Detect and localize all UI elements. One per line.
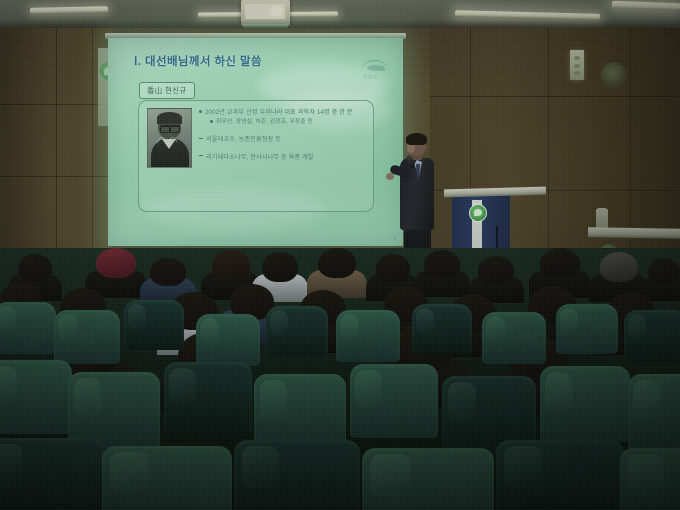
attendee (540, 248, 580, 278)
wall-seam (0, 104, 110, 105)
seat (350, 364, 438, 438)
seat (266, 306, 328, 356)
attendee (424, 250, 460, 278)
seat (234, 440, 360, 510)
presenter-hand (386, 173, 394, 180)
seat (102, 446, 232, 510)
attendee (262, 252, 298, 282)
wall-badge-right (601, 62, 627, 88)
attendee (318, 248, 356, 278)
wall-seam (548, 28, 549, 280)
logo-text: 산림청 (363, 74, 378, 80)
seat (362, 448, 494, 510)
wall-seam (56, 28, 57, 280)
bullet-dot-icon (199, 110, 202, 113)
attendee (478, 256, 514, 284)
attendee (18, 254, 52, 282)
list-item: 리기테다소나무, 현사시나무 등 육종 개발 (199, 154, 367, 162)
seat (0, 438, 104, 510)
attendee (212, 250, 250, 280)
side-table-right (588, 227, 680, 239)
slide-content-box: 2002년 교과부 선정 우리나라 대표 과학자 14명 중 한 분 최무선, … (138, 100, 374, 212)
glasses-icon (160, 125, 180, 131)
list-item: 최무선, 장영실, 허준, 김정호, 우장춘 등 (199, 119, 367, 127)
portrait-photo (147, 108, 192, 168)
green-circular-emblem-icon (469, 204, 487, 222)
wall-seam (630, 28, 631, 280)
seat (556, 304, 618, 354)
lecture-hall-photo: Ⅰ. 대선배님께서 하신 말씀 香山 현신규 2002년 교과부 선정 우리나라… (0, 0, 680, 510)
seat (196, 314, 260, 366)
attendee (648, 258, 680, 284)
wall-sign-right (570, 50, 584, 80)
seat (482, 312, 546, 364)
bullet-text: 리기테다소나무, 현사시나무 등 육종 개발 (206, 154, 314, 161)
slide-corner-logo: 산림청 (359, 54, 393, 84)
projector-lens-icon (271, 6, 282, 16)
presenter-hair (406, 133, 427, 145)
bullet-dash-icon (199, 155, 203, 156)
seat (620, 448, 680, 510)
wall-seam (0, 176, 110, 177)
bullet-dash-icon (199, 138, 203, 139)
sign-dot-icon (574, 71, 580, 75)
seat (412, 304, 472, 354)
wall-seam (430, 96, 680, 97)
bullet-text: 최무선, 장영실, 허준, 김정호, 우장춘 등 (216, 119, 313, 125)
attendee (600, 252, 638, 282)
seat (496, 440, 624, 510)
list-item: 서울대교수, 농촌진흥청장 등 (199, 136, 367, 144)
attendee (150, 258, 186, 286)
portrait-hair (157, 112, 182, 124)
bullet-text: 2002년 교과부 선정 우리나라 대표 과학자 14명 중 한 분 (205, 109, 353, 116)
bullet-dot-icon (210, 120, 213, 123)
slide-title: Ⅰ. 대선배님께서 하신 말씀 (134, 53, 262, 69)
seat (124, 300, 184, 350)
sign-dot-icon (574, 56, 580, 60)
slide-name-box: 香山 현신규 (139, 82, 195, 99)
portrait-signature (155, 133, 181, 147)
seat (336, 310, 400, 362)
attendee (96, 248, 136, 278)
wall-seam (92, 28, 93, 280)
seat (54, 310, 120, 364)
seat (164, 362, 252, 436)
logo-swoosh-icon (367, 65, 385, 71)
podium-microphone-icon (496, 226, 498, 248)
slide-bullet-list: 2002년 교과부 선정 우리나라 대표 과학자 14명 중 한 분 최무선, … (199, 109, 367, 171)
bullet-text: 서울대교수, 농촌진흥청장 등 (206, 136, 281, 143)
seat (624, 310, 680, 362)
projection-screen: Ⅰ. 대선배님께서 하신 말씀 香山 현신규 2002년 교과부 선정 우리나라… (108, 38, 403, 246)
sign-dot-icon (574, 64, 580, 68)
seat (540, 366, 630, 442)
seat (628, 374, 680, 452)
list-item: 2002년 교과부 선정 우리나라 대표 과학자 14명 중 한 분 (199, 109, 367, 117)
seat (0, 302, 56, 354)
audience-area (0, 248, 680, 510)
seat (0, 360, 72, 434)
attendee (376, 254, 410, 282)
